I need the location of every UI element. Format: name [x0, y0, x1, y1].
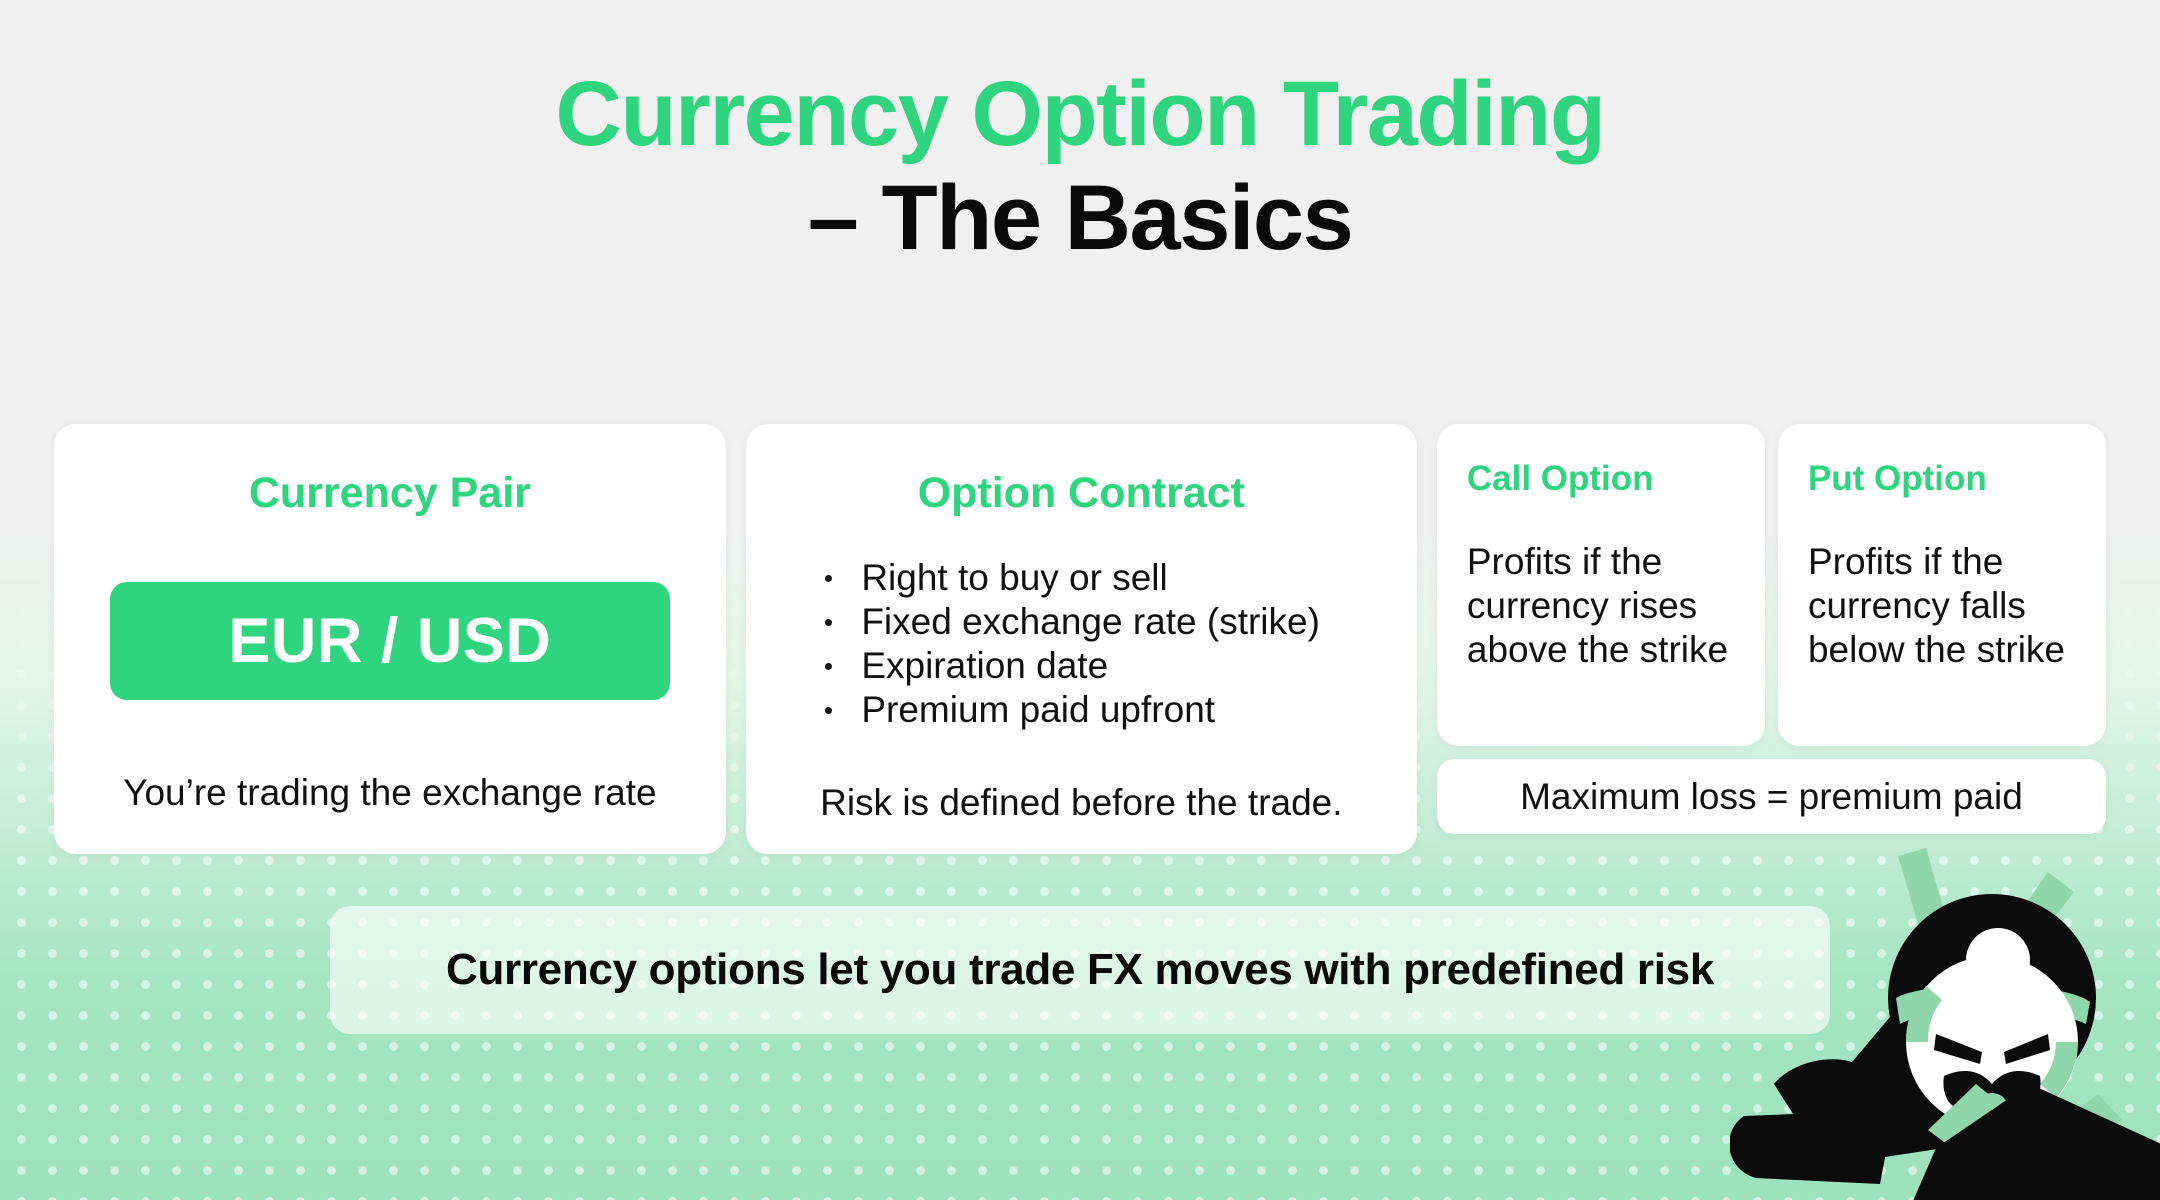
- mascot-sash: [1928, 1084, 1998, 1148]
- currency-pair-badge-label: EUR / USD: [228, 605, 551, 677]
- infographic-canvas: Currency Option Trading – The Basics Cur…: [0, 0, 2160, 1200]
- card-put-option-title: Put Option: [1808, 458, 2076, 500]
- list-item: Right to buy or sell: [821, 556, 1341, 600]
- card-option-contract: Option Contract Right to buy or sell Fix…: [746, 424, 1417, 854]
- card-call-option-title: Call Option: [1467, 458, 1735, 500]
- max-loss-label: Maximum loss = premium paid: [1520, 776, 2023, 818]
- card-call-option: Call Option Profits if the currency rise…: [1437, 424, 1765, 746]
- card-option-contract-title: Option Contract: [918, 468, 1245, 518]
- mascot-eye-right: [2004, 1034, 2050, 1064]
- mascot-crest: [1898, 848, 2074, 980]
- max-loss-bar: Maximum loss = premium paid: [1437, 759, 2106, 834]
- summary-banner: Currency options let you trade FX moves …: [330, 906, 1830, 1034]
- options-row: Call Option Profits if the currency rise…: [1437, 424, 2106, 746]
- list-item: Fixed exchange rate (strike): [821, 600, 1341, 644]
- title-line-secondary: – The Basics: [0, 166, 2160, 270]
- mascot-chin: [1975, 1093, 2009, 1127]
- card-currency-pair-title: Currency Pair: [249, 468, 531, 518]
- list-item: Expiration date: [821, 644, 1341, 688]
- list-item: Premium paid upfront: [821, 688, 1341, 732]
- mascot-mustache: [1943, 1071, 2040, 1110]
- option-contract-bullet-list: Right to buy or sell Fixed exchange rate…: [821, 556, 1341, 732]
- currency-pair-note: You’re trading the exchange rate: [123, 772, 656, 814]
- mascot-crest-ball: [1966, 928, 2030, 992]
- mascot-helmet-brim: [1896, 985, 2090, 1024]
- summary-banner-text: Currency options let you trade FX moves …: [446, 945, 1714, 995]
- card-currency-pair: Currency Pair EUR / USD You’re trading t…: [54, 424, 726, 854]
- mascot-torso: [1910, 1084, 2160, 1200]
- page-title: Currency Option Trading – The Basics: [0, 62, 2160, 270]
- mascot-leg: [1730, 1110, 1894, 1184]
- mascot-eye-left: [1934, 1034, 1982, 1064]
- currency-pair-badge: EUR / USD: [110, 582, 670, 700]
- card-call-option-body: Profits if the currency rises above the …: [1467, 540, 1735, 672]
- option-contract-note: Risk is defined before the trade.: [746, 782, 1417, 824]
- card-put-option-body: Profits if the currency falls below the …: [1808, 540, 2076, 672]
- mascot-face: [1906, 956, 2078, 1128]
- mascot-helmet: [1888, 894, 2096, 1102]
- card-grid: Currency Pair EUR / USD You’re trading t…: [54, 424, 2106, 854]
- card-put-option: Put Option Profits if the currency falls…: [1778, 424, 2106, 746]
- options-column: Call Option Profits if the currency rise…: [1437, 424, 2106, 834]
- mascot-sash-lower: [1986, 1094, 2122, 1200]
- title-line-primary: Currency Option Trading: [0, 62, 2160, 166]
